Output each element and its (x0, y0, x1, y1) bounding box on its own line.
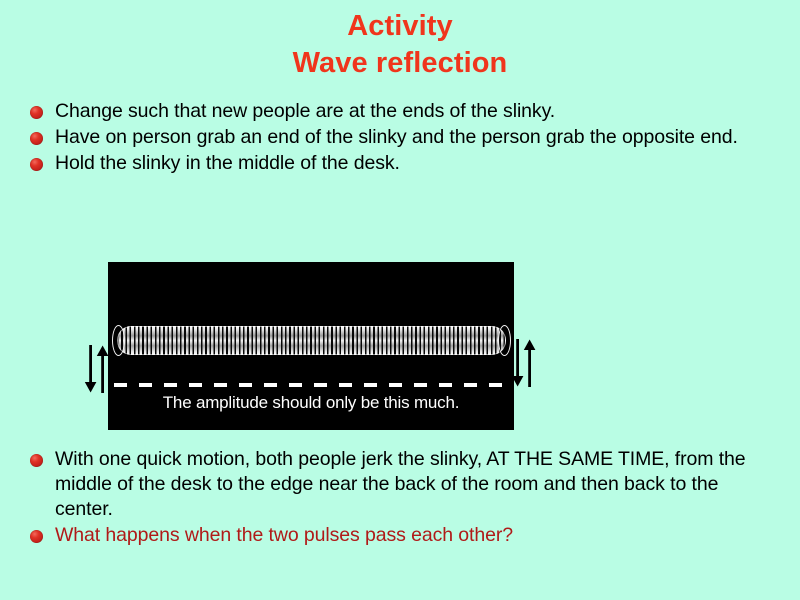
left-amplitude-arrows (84, 345, 110, 393)
bullet-dot-icon (30, 106, 43, 119)
amplitude-reference-line (114, 383, 508, 387)
arrow-up-icon (96, 345, 109, 393)
title-block: Activity Wave reflection (0, 10, 800, 80)
slinky-coil (117, 326, 506, 355)
arrow-up-icon (523, 339, 536, 387)
list-item: Change such that new people are at the e… (30, 99, 775, 124)
page-subtitle: Wave reflection (0, 47, 800, 79)
bullet-dot-icon (30, 530, 43, 543)
bullet-dot-icon (30, 132, 43, 145)
bullet-dot-icon (30, 158, 43, 171)
diagram-caption: The amplitude should only be this much. (108, 393, 514, 413)
list-item: What happens when the two pulses pass ea… (30, 523, 775, 548)
slinky-coil-body (117, 326, 506, 355)
bullet-dot-icon (30, 454, 43, 467)
right-amplitude-arrows (511, 339, 537, 387)
list-item: With one quick motion, both people jerk … (30, 447, 775, 522)
page-title: Activity (0, 10, 800, 42)
list-item-label: Hold the slinky in the middle of the des… (55, 151, 400, 176)
top-bullet-list: Change such that new people are at the e… (30, 99, 775, 177)
list-item-label: With one quick motion, both people jerk … (55, 447, 775, 522)
slide-canvas: Activity Wave reflection Change such tha… (0, 0, 800, 600)
slinky-diagram-panel: The amplitude should only be this much. (108, 262, 514, 430)
list-item-label: Have on person grab an end of the slinky… (55, 125, 738, 150)
slinky-end-cap-right (498, 325, 511, 356)
list-item: Have on person grab an end of the slinky… (30, 125, 775, 150)
slinky-end-cap-left (112, 325, 125, 356)
list-item: Hold the slinky in the middle of the des… (30, 151, 775, 176)
list-item-label: Change such that new people are at the e… (55, 99, 555, 124)
list-item-label-question: What happens when the two pulses pass ea… (55, 523, 513, 548)
bottom-bullet-list: With one quick motion, both people jerk … (30, 447, 775, 549)
